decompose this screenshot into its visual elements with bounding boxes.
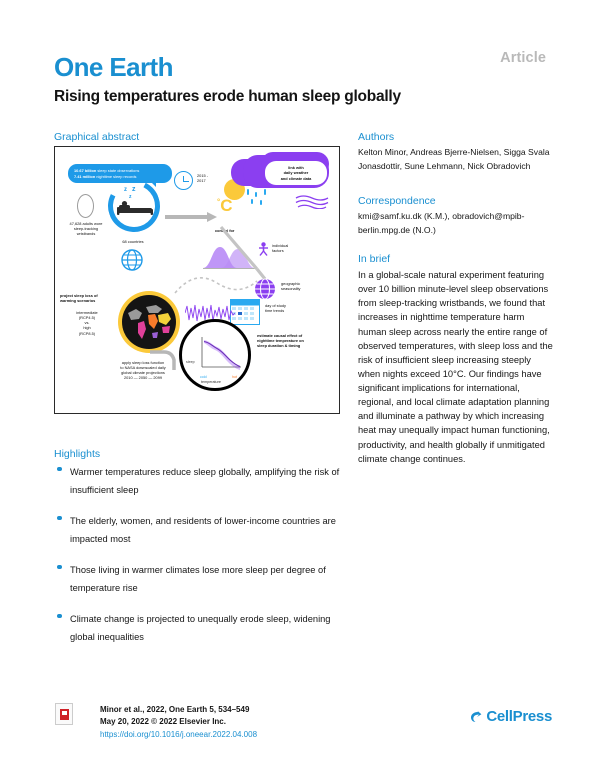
- cellpress-mark-icon: [468, 710, 482, 724]
- project-scenarios-caption: intermediate (RCP4.5) vs. high (RCP8.5): [60, 310, 114, 336]
- temperature-icon: °C: [217, 197, 232, 214]
- apply-function-caption: apply sleep loss function to NASA downsc…: [101, 360, 185, 375]
- highlights-heading: Highlights: [54, 448, 100, 460]
- cellpress-name: CellPress: [486, 708, 552, 725]
- callout-bold-1: 10.67 billion: [74, 168, 96, 173]
- highlight-text: The elderly, women, and residents of low…: [70, 516, 336, 544]
- projection-map-ring: [118, 291, 180, 353]
- world-map-icon: [122, 295, 176, 349]
- open-access-badge: [55, 703, 73, 725]
- wristband-caption: 47,628 adults wore sleep-tracking wristb…: [65, 221, 107, 236]
- zzz-icon-2: z: [124, 187, 127, 193]
- weather-data-bubble: link with daily weather and climate data: [265, 161, 327, 185]
- chart-x-axis-label: temperature: [201, 380, 221, 385]
- callout-bold-2: 7.41 million: [74, 174, 95, 179]
- correspondence-emails[interactable]: kmi@samf.ku.dk (K.M.), obradovich@mpib-b…: [358, 210, 558, 238]
- estimate-effect-caption: estimate causal effect of nighttime temp…: [257, 333, 339, 348]
- zzz-icon-4: z: [129, 194, 132, 200]
- rain-drop-icon-3: [264, 189, 266, 195]
- rain-drop-icon-5: [260, 200, 262, 205]
- rain-drop-icon-4: [251, 199, 253, 204]
- bullet-icon: [57, 467, 62, 472]
- list-item: Warmer temperatures reduce sleep globall…: [54, 462, 344, 498]
- article-type-label: Article: [500, 50, 546, 66]
- study-years-caption: 2015 - 2017: [197, 173, 223, 183]
- flow-arrow-icon: [165, 213, 219, 220]
- highlights-list: Warmer temperatures reduce sleep globall…: [54, 462, 344, 658]
- doi-link[interactable]: https://doi.org/10.1016/j.oneear.2022.04…: [100, 729, 400, 741]
- journal-logo: One Earth: [54, 54, 173, 80]
- degree-letter: C: [220, 196, 232, 215]
- list-item: Those living in warmer climates lose mor…: [54, 560, 344, 596]
- page-title: Rising temperatures erode human sleep gl…: [54, 88, 554, 106]
- bullet-icon: [57, 614, 62, 619]
- zzz-icon-3: z: [132, 186, 136, 193]
- geographic-seasonality-label: geographic seasonality: [281, 281, 331, 291]
- day-of-study-label: day of study time trends: [265, 303, 317, 313]
- data-volume-callout: 10.67 billion sleep state observations 7…: [68, 164, 172, 183]
- citation-block: Minor et al., 2022, One Earth 5, 534–549…: [100, 704, 400, 741]
- project-sleep-loss-title: project sleep loss of warming scenarios: [60, 293, 116, 303]
- highlight-text: Warmer temperatures reduce sleep globall…: [70, 467, 339, 495]
- authors-list: Kelton Minor, Andreas Bjerre-Nielsen, Si…: [358, 146, 558, 174]
- wind-icon: [295, 195, 329, 209]
- list-item: The elderly, women, and residents of low…: [54, 511, 344, 547]
- highlight-text: Those living in warmer climates lose mor…: [70, 565, 326, 593]
- citation-line-1: Minor et al., 2022, One Earth 5, 534–549: [100, 704, 400, 716]
- flow-connector-dashed: [173, 273, 259, 299]
- journal-cover-page: One Earth Article Rising temperatures er…: [0, 0, 600, 779]
- callout-rest-1: sleep state observations: [96, 168, 139, 173]
- dose-response-chart: [198, 336, 242, 372]
- rain-drop-icon-1: [247, 189, 249, 195]
- citation-line-2: May 20, 2022 © 2022 Elsevier Inc.: [100, 716, 400, 728]
- bullet-icon: [57, 565, 62, 570]
- authors-heading: Authors: [358, 131, 554, 143]
- countries-caption: 68 countries: [111, 239, 155, 244]
- wristband-icon: [77, 194, 94, 218]
- geographic-globe-icon: [254, 278, 276, 300]
- sleep-temperature-magnifier: sleep cold hot temperature: [179, 319, 251, 391]
- chart-x-max-label: hot: [232, 375, 237, 380]
- cloud-caption: link with daily weather and climate data: [281, 165, 312, 181]
- highlight-text: Climate change is projected to unequally…: [70, 614, 330, 642]
- bed-icon: [117, 200, 153, 216]
- bullet-icon: [57, 516, 62, 521]
- cellpress-logo: CellPress: [468, 708, 552, 725]
- globe-icon: [121, 249, 143, 271]
- rain-drop-icon-2: [255, 192, 257, 197]
- in-brief-heading: In brief: [358, 253, 554, 265]
- in-brief-text: In a global-scale natural experiment fea…: [358, 268, 554, 466]
- clock-icon: [174, 171, 193, 190]
- timeline-caption: 2010 — 2050 — 2099: [101, 375, 185, 380]
- chart-y-axis-label: sleep: [186, 360, 195, 365]
- list-item: Climate change is projected to unequally…: [54, 609, 344, 645]
- graphical-abstract-heading: Graphical abstract: [54, 131, 139, 143]
- graphical-abstract-figure: 47,628 adults wore sleep-tracking wristb…: [54, 146, 340, 414]
- callout-rest-2: nighttime sleep records: [95, 174, 136, 179]
- correspondence-heading: Correspondence: [358, 195, 554, 207]
